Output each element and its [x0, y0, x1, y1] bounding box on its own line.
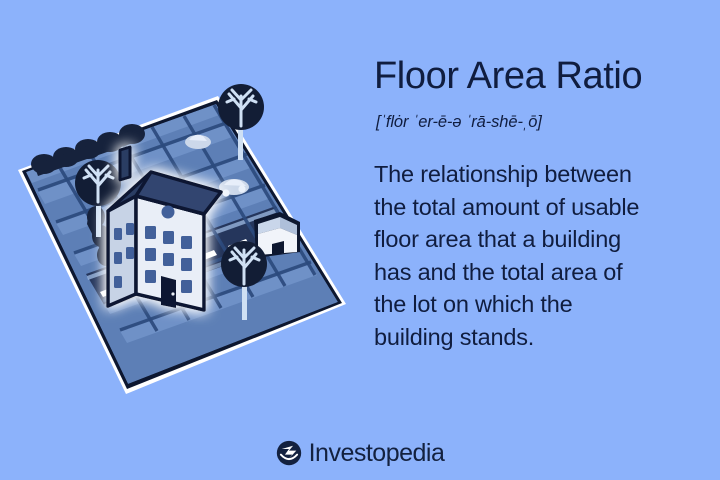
- house-door: [161, 276, 176, 308]
- pronunciation-text: [ˈflȯr ˈer-ē-ə ˈrā-shē-ˌō]: [376, 112, 704, 132]
- door-knob-icon: [171, 292, 174, 295]
- infographic-card: Floor Area Ratio [ˈflȯr ˈer-ē-ə ˈrā-shē-…: [0, 0, 720, 480]
- floor-area-ratio-lot-illustration: [8, 52, 348, 402]
- definition-text: The relationship between the total amoun…: [374, 158, 704, 353]
- page-title: Floor Area Ratio: [374, 54, 704, 98]
- definition-line: floor area that a building: [374, 223, 704, 256]
- brand-footer: Investopedia: [0, 440, 720, 466]
- investopedia-logo-icon: [276, 440, 302, 466]
- definition-line: the lot on which the: [374, 288, 704, 321]
- definition-line: the total amount of usable: [374, 191, 704, 224]
- definition-line: has and the total area of: [374, 256, 704, 289]
- text-column: Floor Area Ratio [ˈflȯr ˈer-ē-ə ˈrā-shē-…: [374, 54, 704, 353]
- definition-line: The relationship between: [374, 158, 704, 191]
- definition-line: building stands.: [374, 321, 704, 354]
- brand-name: Investopedia: [309, 440, 445, 466]
- house-round-window: [162, 206, 175, 219]
- chimney: [120, 147, 130, 180]
